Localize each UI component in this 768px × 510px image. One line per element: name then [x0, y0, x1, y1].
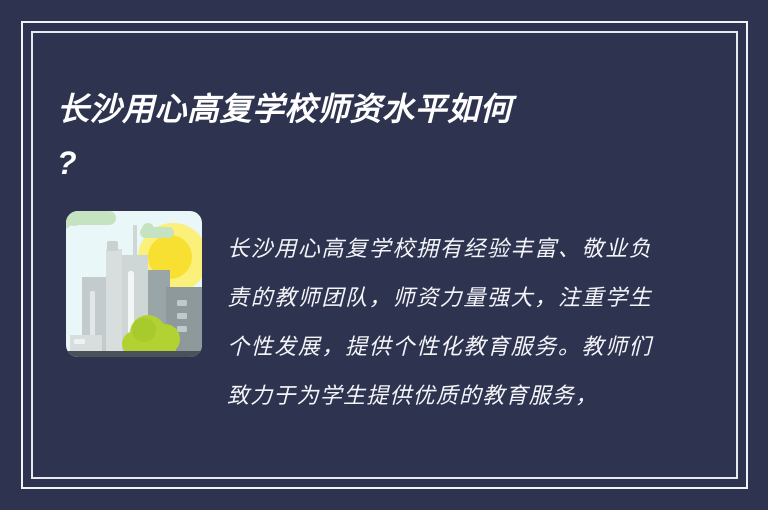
- city-skyline-illustration: [60, 205, 208, 365]
- article-body: 长沙用心高复学校拥有经验丰富、敬业负责的教师团队，师资力量强大，注重学生个性发展…: [227, 225, 652, 421]
- article-content: 长沙用心高复学校拥有经验丰富、敬业负责的教师团队，师资力量强大，注重学生个性发展…: [57, 203, 708, 465]
- page-title: 长沙用心高复学校师资水平如何 ?: [57, 83, 617, 189]
- city-skyline-icon: [60, 205, 208, 365]
- poster-canvas: 长沙用心高复学校师资水平如何 ?: [0, 0, 768, 510]
